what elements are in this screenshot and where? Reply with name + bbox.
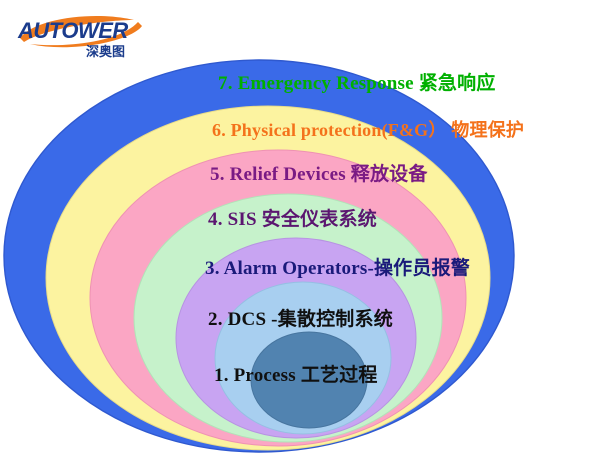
autower-logo[interactable]: AUTOWER 深奥图 [14, 8, 154, 60]
caption-layer-2-number: 2. [208, 309, 223, 330]
caption-layer-1[interactable]: 1. Process 工艺过程 [214, 366, 378, 385]
onion-ellipse-stack [0, 0, 600, 464]
caption-layer-1-en: Process [234, 365, 296, 386]
caption-layer-3-cn: 操作员报警 [374, 257, 470, 279]
caption-layer-7-cn: 紧急响应 [419, 72, 496, 94]
caption-layer-3-number: 3. [205, 258, 220, 279]
caption-layer-4-en: SIS [228, 209, 257, 230]
caption-layer-5[interactable]: 5. Relief Devices 释放设备 [210, 165, 428, 184]
caption-layer-4[interactable]: 4. SIS 安全仪表系统 [208, 210, 377, 229]
caption-layer-6-en: Physical protection(F&G） [231, 120, 447, 140]
caption-layer-2[interactable]: 2. DCS -集散控制系统 [208, 310, 393, 329]
caption-layer-7-number: 7. [218, 73, 233, 94]
logo-wordmark: AUTOWER [17, 18, 128, 43]
caption-layer-1-cn: 工艺过程 [301, 364, 378, 386]
caption-layer-6-number: 6. [212, 120, 226, 140]
caption-layer-3[interactable]: 3. Alarm Operators-操作员报警 [205, 259, 470, 278]
caption-layer-2-cn: 集散控制系统 [278, 308, 393, 330]
diagram-canvas: 7. Emergency Response 紧急响应 6. Physical p… [0, 0, 600, 464]
logo-chinese-name: 深奥图 [86, 44, 125, 60]
caption-layer-1-number: 1. [214, 365, 229, 386]
caption-layer-4-number: 4. [208, 209, 223, 230]
caption-layer-3-en: Alarm Operators- [224, 258, 374, 279]
caption-layer-6-cn: 物理保护 [451, 120, 524, 141]
caption-layer-7-en: Emergency Response [238, 73, 414, 94]
caption-layer-4-cn: 安全仪表系统 [262, 208, 377, 230]
caption-layer-2-en: DCS - [228, 309, 278, 330]
caption-layer-6[interactable]: 6. Physical protection(F&G） 物理保护 [212, 121, 524, 140]
caption-layer-7[interactable]: 7. Emergency Response 紧急响应 [218, 74, 496, 93]
caption-layer-5-number: 5. [210, 164, 225, 185]
caption-layer-5-en: Relief Devices [230, 164, 346, 185]
caption-layer-5-cn: 释放设备 [351, 163, 428, 185]
